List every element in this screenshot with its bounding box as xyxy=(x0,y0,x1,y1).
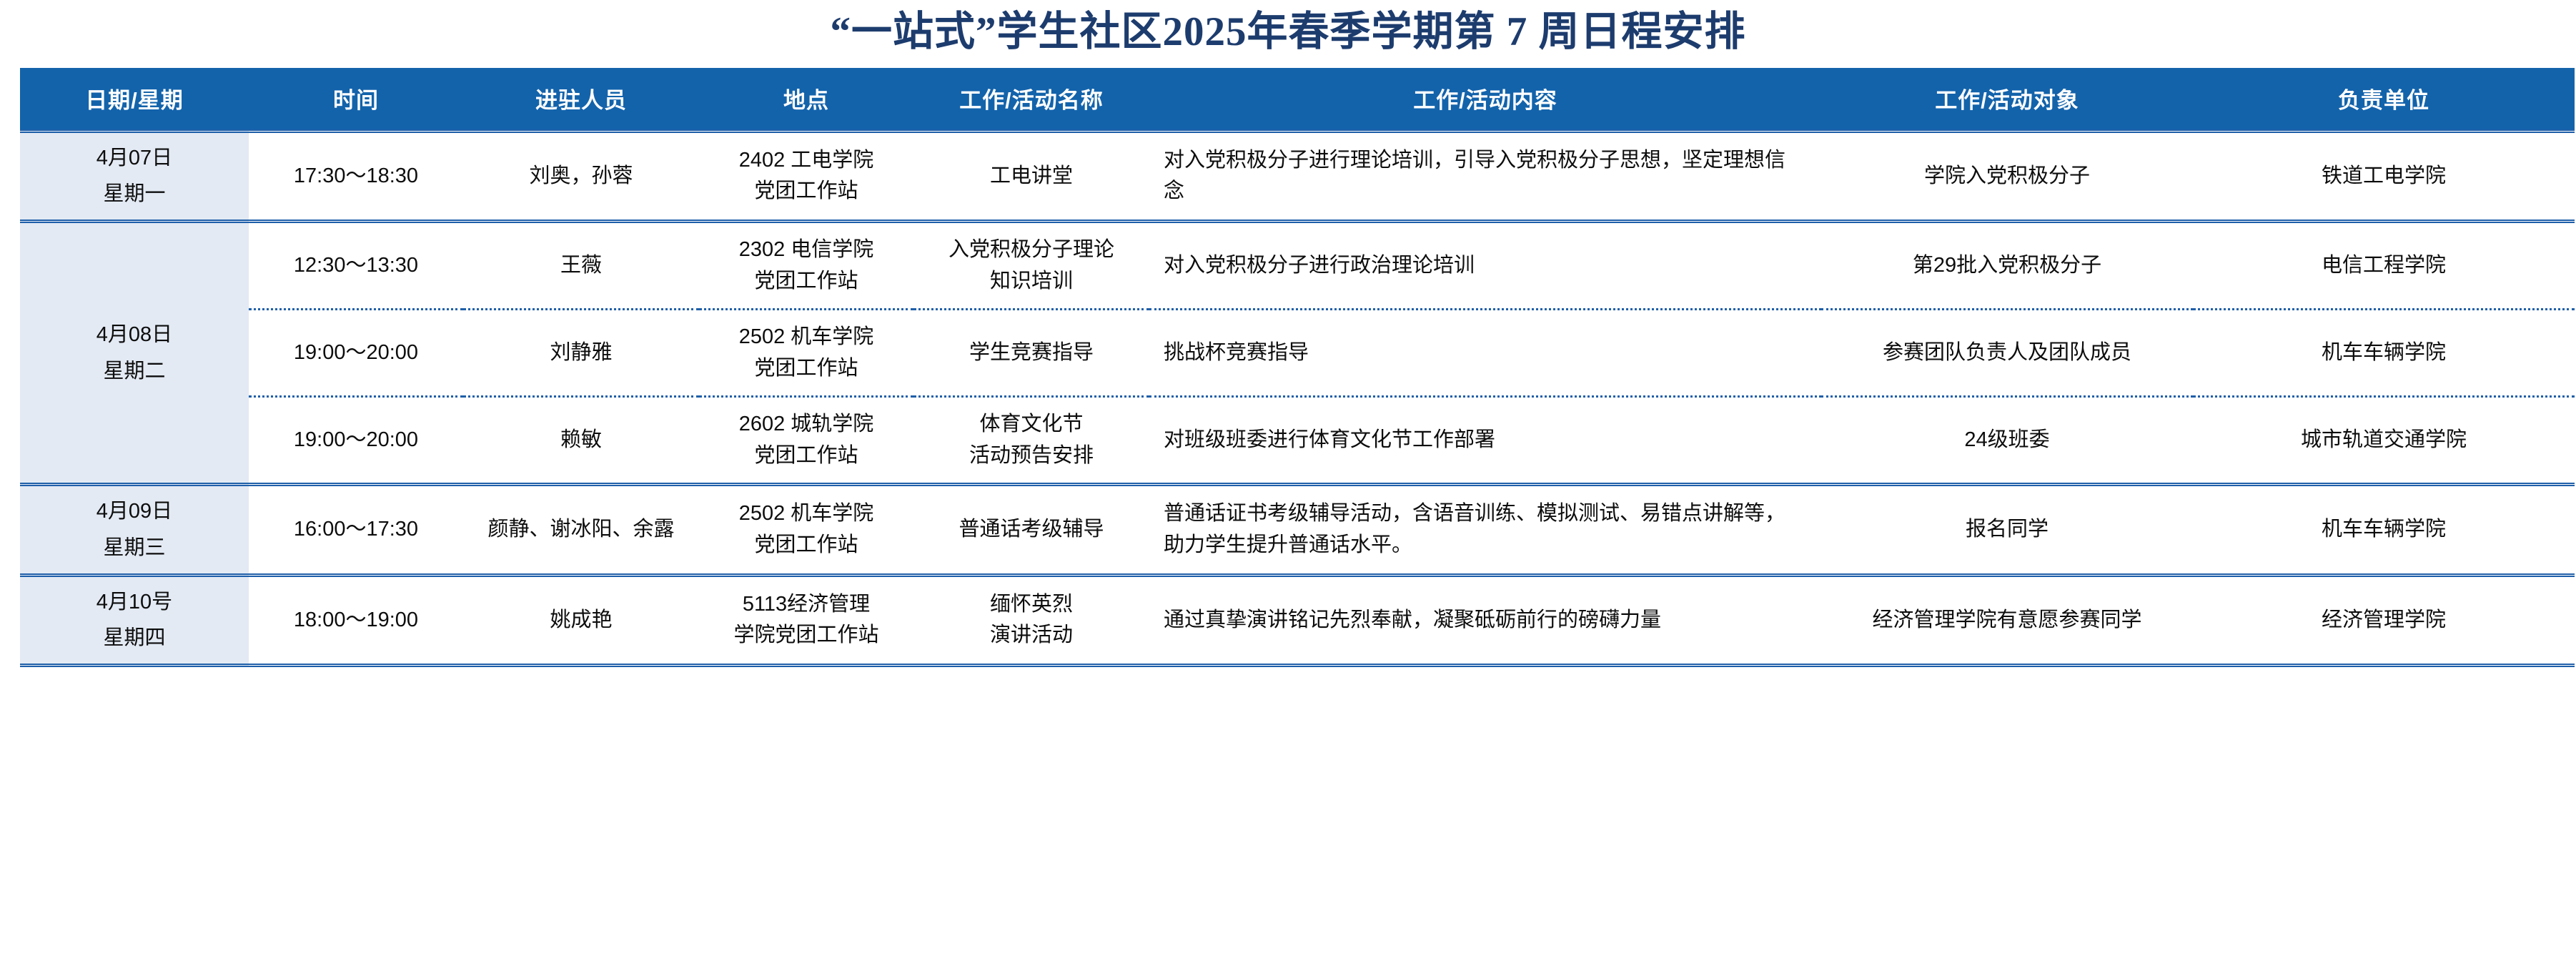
cell-activity: 缅怀英烈 演讲活动 xyxy=(913,575,1149,666)
activity-line-1: 缅怀英烈 xyxy=(923,589,1139,621)
cell-activity: 学生竞赛指导 xyxy=(913,310,1149,397)
place-line-1: 2502 机车学院 xyxy=(709,322,903,353)
column-header-staff: 进驻人员 xyxy=(463,68,699,131)
cell-staff: 刘静雅 xyxy=(463,310,699,397)
cell-content: 对班级班委进行体育文化节工作部署 xyxy=(1149,397,1821,485)
place-line-1: 2302 电信学院 xyxy=(709,235,903,266)
place-line-2: 党团工作站 xyxy=(709,530,903,561)
cell-time: 19:00～20:00 xyxy=(249,310,463,397)
schedule-table-wrapper: 日期/星期 时间 进驻人员 地点 工作/活动名称 工作/活动内容 工作/活动对象… xyxy=(20,68,2575,667)
cell-content: 对入党积极分子进行理论培训，引导入党积极分子思想，坚定理想信念 xyxy=(1149,131,1821,222)
cell-date: 4月08日 星期二 xyxy=(20,222,249,485)
table-header: 日期/星期 时间 进驻人员 地点 工作/活动名称 工作/活动内容 工作/活动对象… xyxy=(20,68,2575,131)
cell-time: 17:30～18:30 xyxy=(249,131,463,222)
column-header-time: 时间 xyxy=(249,68,463,131)
table-row: 4月09日 星期三 16:00～17:30 颜静、谢冰阳、余露 2502 机车学… xyxy=(20,485,2575,576)
activity-line-2: 演讲活动 xyxy=(923,620,1139,651)
column-header-date: 日期/星期 xyxy=(20,68,249,131)
place-line-1: 2602 城轨学院 xyxy=(709,409,903,440)
cell-unit: 城市轨道交通学院 xyxy=(2193,397,2575,485)
column-header-unit: 负责单位 xyxy=(2193,68,2575,131)
cell-activity: 工电讲堂 xyxy=(913,131,1149,222)
cell-activity: 入党积极分子理论 知识培训 xyxy=(913,222,1149,310)
cell-staff: 姚成艳 xyxy=(463,575,699,666)
cell-date: 4月10号 星期四 xyxy=(20,575,249,666)
column-header-content: 工作/活动内容 xyxy=(1149,68,1821,131)
column-header-target: 工作/活动对象 xyxy=(1821,68,2193,131)
cell-unit: 铁道工电学院 xyxy=(2193,131,2575,222)
activity-line-2: 知识培训 xyxy=(923,266,1139,297)
cell-staff: 颜静、谢冰阳、余露 xyxy=(463,485,699,576)
cell-place: 5113经济管理 学院党团工作站 xyxy=(699,575,913,666)
page-root: “一站式”学生社区2025年春季学期第 7 周日程安排 日期/星期 时间 进驻人… xyxy=(0,0,2576,966)
cell-staff: 赖敏 xyxy=(463,397,699,485)
date-day: 4月07日 xyxy=(24,140,244,177)
activity-line-1: 工电讲堂 xyxy=(923,161,1139,192)
cell-time: 18:00～19:00 xyxy=(249,575,463,666)
column-header-place: 地点 xyxy=(699,68,913,131)
cell-time: 19:00～20:00 xyxy=(249,397,463,485)
activity-line-1: 入党积极分子理论 xyxy=(923,235,1139,266)
date-week: 星期一 xyxy=(24,176,244,212)
cell-time: 16:00～17:30 xyxy=(249,485,463,576)
table-row: 4月10号 星期四 18:00～19:00 姚成艳 5113经济管理 学院党团工… xyxy=(20,575,2575,666)
cell-target: 参赛团队负责人及团队成员 xyxy=(1821,310,2193,397)
place-line-2: 党团工作站 xyxy=(709,176,903,207)
table-row: 19:00～20:00 刘静雅 2502 机车学院 党团工作站 学生竞赛指导 挑… xyxy=(20,310,2575,397)
cell-time: 12:30～13:30 xyxy=(249,222,463,310)
cell-place: 2602 城轨学院 党团工作站 xyxy=(699,397,913,485)
cell-unit: 机车车辆学院 xyxy=(2193,310,2575,397)
date-week: 星期二 xyxy=(24,353,244,390)
activity-line-2: 活动预告安排 xyxy=(923,440,1139,472)
table-body: 4月07日 星期一 17:30～18:30 刘奥，孙蓉 2402 工电学院 党团… xyxy=(20,131,2575,666)
cell-target: 经济管理学院有意愿参赛同学 xyxy=(1821,575,2193,666)
cell-target: 24级班委 xyxy=(1821,397,2193,485)
place-line-2: 党团工作站 xyxy=(709,353,903,385)
table-row: 19:00～20:00 赖敏 2602 城轨学院 党团工作站 体育文化节 活动预… xyxy=(20,397,2575,485)
date-day: 4月10号 xyxy=(24,584,244,621)
cell-content: 普通话证书考级辅导活动，含语音训练、模拟测试、易错点讲解等，助力学生提升普通话水… xyxy=(1149,485,1821,576)
cell-staff: 刘奥，孙蓉 xyxy=(463,131,699,222)
date-week: 星期四 xyxy=(24,620,244,656)
cell-unit: 电信工程学院 xyxy=(2193,222,2575,310)
date-day: 4月09日 xyxy=(24,493,244,530)
cell-date: 4月07日 星期一 xyxy=(20,131,249,222)
cell-place: 2502 机车学院 党团工作站 xyxy=(699,485,913,576)
column-header-activity: 工作/活动名称 xyxy=(913,68,1149,131)
place-line-2: 党团工作站 xyxy=(709,266,903,297)
table-row: 4月07日 星期一 17:30～18:30 刘奥，孙蓉 2402 工电学院 党团… xyxy=(20,131,2575,222)
cell-date: 4月09日 星期三 xyxy=(20,485,249,576)
cell-content: 通过真挚演讲铭记先烈奉献，凝聚砥砺前行的磅礴力量 xyxy=(1149,575,1821,666)
place-line-1: 5113经济管理 xyxy=(709,589,903,621)
header-row: 日期/星期 时间 进驻人员 地点 工作/活动名称 工作/活动内容 工作/活动对象… xyxy=(20,68,2575,131)
page-title: “一站式”学生社区2025年春季学期第 7 周日程安排 xyxy=(831,11,1746,52)
table-row: 4月08日 星期二 12:30～13:30 王薇 2302 电信学院 党团工作站… xyxy=(20,222,2575,310)
cell-unit: 机车车辆学院 xyxy=(2193,485,2575,576)
schedule-table: 日期/星期 时间 进驻人员 地点 工作/活动名称 工作/活动内容 工作/活动对象… xyxy=(20,68,2575,667)
place-line-2: 学院党团工作站 xyxy=(709,620,903,651)
cell-activity: 体育文化节 活动预告安排 xyxy=(913,397,1149,485)
activity-line-1: 体育文化节 xyxy=(923,409,1139,440)
place-line-1: 2502 机车学院 xyxy=(709,498,903,530)
cell-target: 第29批入党积极分子 xyxy=(1821,222,2193,310)
cell-place: 2302 电信学院 党团工作站 xyxy=(699,222,913,310)
date-day: 4月08日 xyxy=(24,317,244,353)
place-line-1: 2402 工电学院 xyxy=(709,145,903,177)
cell-content: 挑战杯竞赛指导 xyxy=(1149,310,1821,397)
cell-place: 2402 工电学院 党团工作站 xyxy=(699,131,913,222)
cell-target: 学院入党积极分子 xyxy=(1821,131,2193,222)
activity-line-1: 普通话考级辅导 xyxy=(923,514,1139,546)
cell-staff: 王薇 xyxy=(463,222,699,310)
cell-content: 对入党积极分子进行政治理论培训 xyxy=(1149,222,1821,310)
date-week: 星期三 xyxy=(24,530,244,566)
cell-target: 报名同学 xyxy=(1821,485,2193,576)
place-line-2: 党团工作站 xyxy=(709,440,903,472)
activity-line-1: 学生竞赛指导 xyxy=(923,337,1139,369)
cell-activity: 普通话考级辅导 xyxy=(913,485,1149,576)
title-bar: “一站式”学生社区2025年春季学期第 7 周日程安排 xyxy=(0,0,2576,68)
cell-place: 2502 机车学院 党团工作站 xyxy=(699,310,913,397)
cell-unit: 经济管理学院 xyxy=(2193,575,2575,666)
